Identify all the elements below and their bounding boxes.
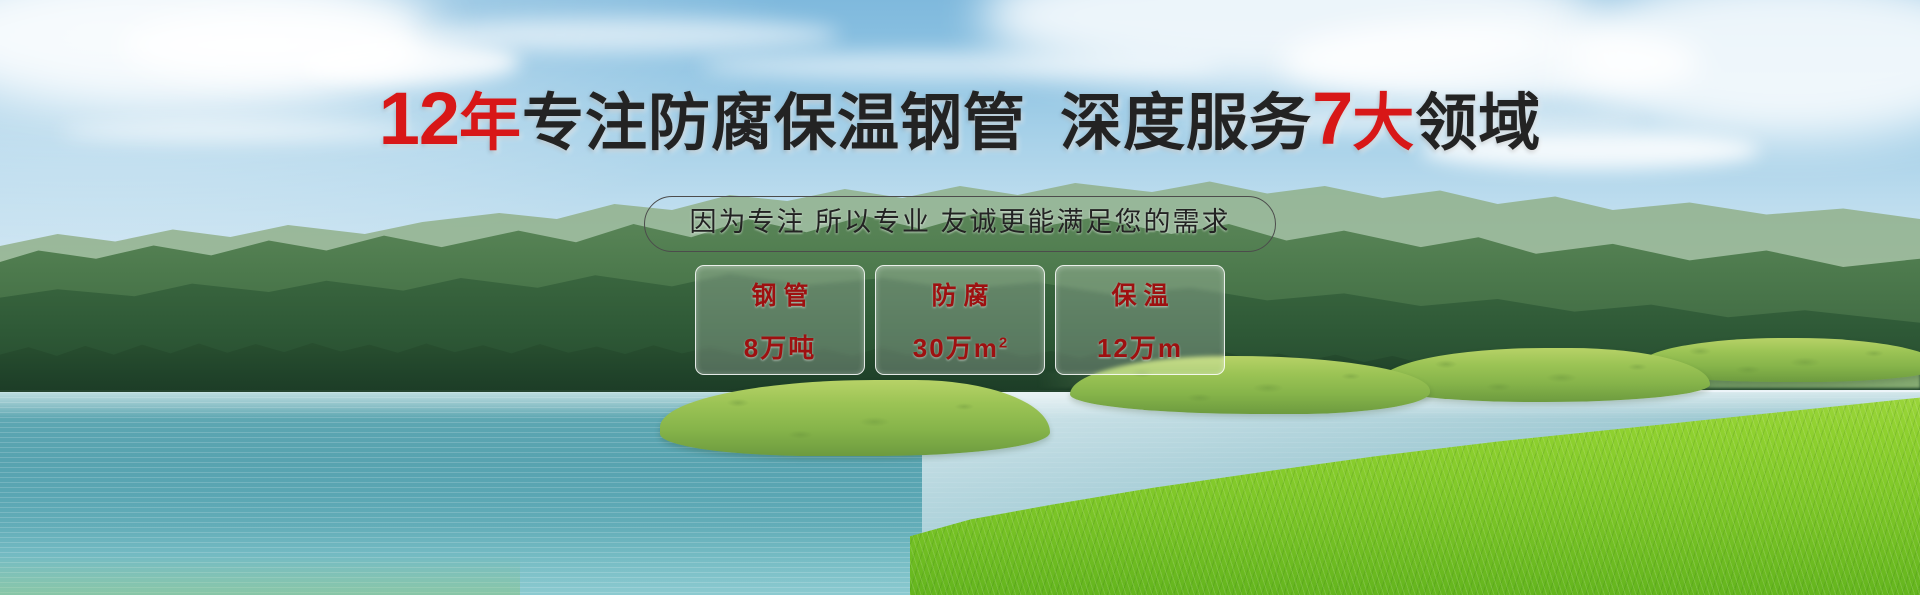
stat-card-title: 钢管 [744,276,815,312]
banner-headline: 12年专注防腐保温钢管深度服务7大领域 [0,82,1920,156]
stat-card-title: 保温 [1104,276,1175,312]
headline-main-text: 专注防腐保温钢管 [522,89,1026,158]
headline-service-text: 深度服务 [1060,89,1312,158]
headline-fields-number: 7 [1312,77,1352,160]
stat-card-value-superscript: 2 [999,334,1007,351]
stat-card-group: 钢管 8万吨 防腐 30万m2 保温 12万m [0,265,1920,375]
stat-card-insulation[interactable]: 保温 12万m [1055,265,1225,375]
stat-card-steel-pipe[interactable]: 钢管 8万吨 [695,265,865,375]
stat-card-value: 8万吨 [744,328,816,365]
stat-card-value-text: 8万吨 [744,333,816,363]
stat-card-value: 12万m [1097,328,1183,365]
hero-banner: 12年专注防腐保温钢管深度服务7大领域 因为专注 所以专业 友诚更能满足您的需求… [0,0,1920,595]
headline-years-unit: 年 [459,89,522,158]
headline-years-number: 12 [379,77,459,160]
banner-subtitle-pill: 因为专注 所以专业 友诚更能满足您的需求 [644,196,1275,252]
headline-fields-text: 领域 [1415,89,1541,158]
headline-fields-unit: 大 [1352,89,1415,158]
stat-card-anticorrosion[interactable]: 防腐 30万m2 [875,265,1045,375]
banner-content: 12年专注防腐保温钢管深度服务7大领域 因为专注 所以专业 友诚更能满足您的需求… [0,0,1920,595]
banner-subtitle-wrapper: 因为专注 所以专业 友诚更能满足您的需求 [0,196,1920,252]
stat-card-value-text: 12万m [1097,333,1183,363]
stat-card-value-text: 30万m [913,333,999,363]
stat-card-title: 防腐 [924,276,995,312]
stat-card-value: 30万m2 [913,328,1007,365]
